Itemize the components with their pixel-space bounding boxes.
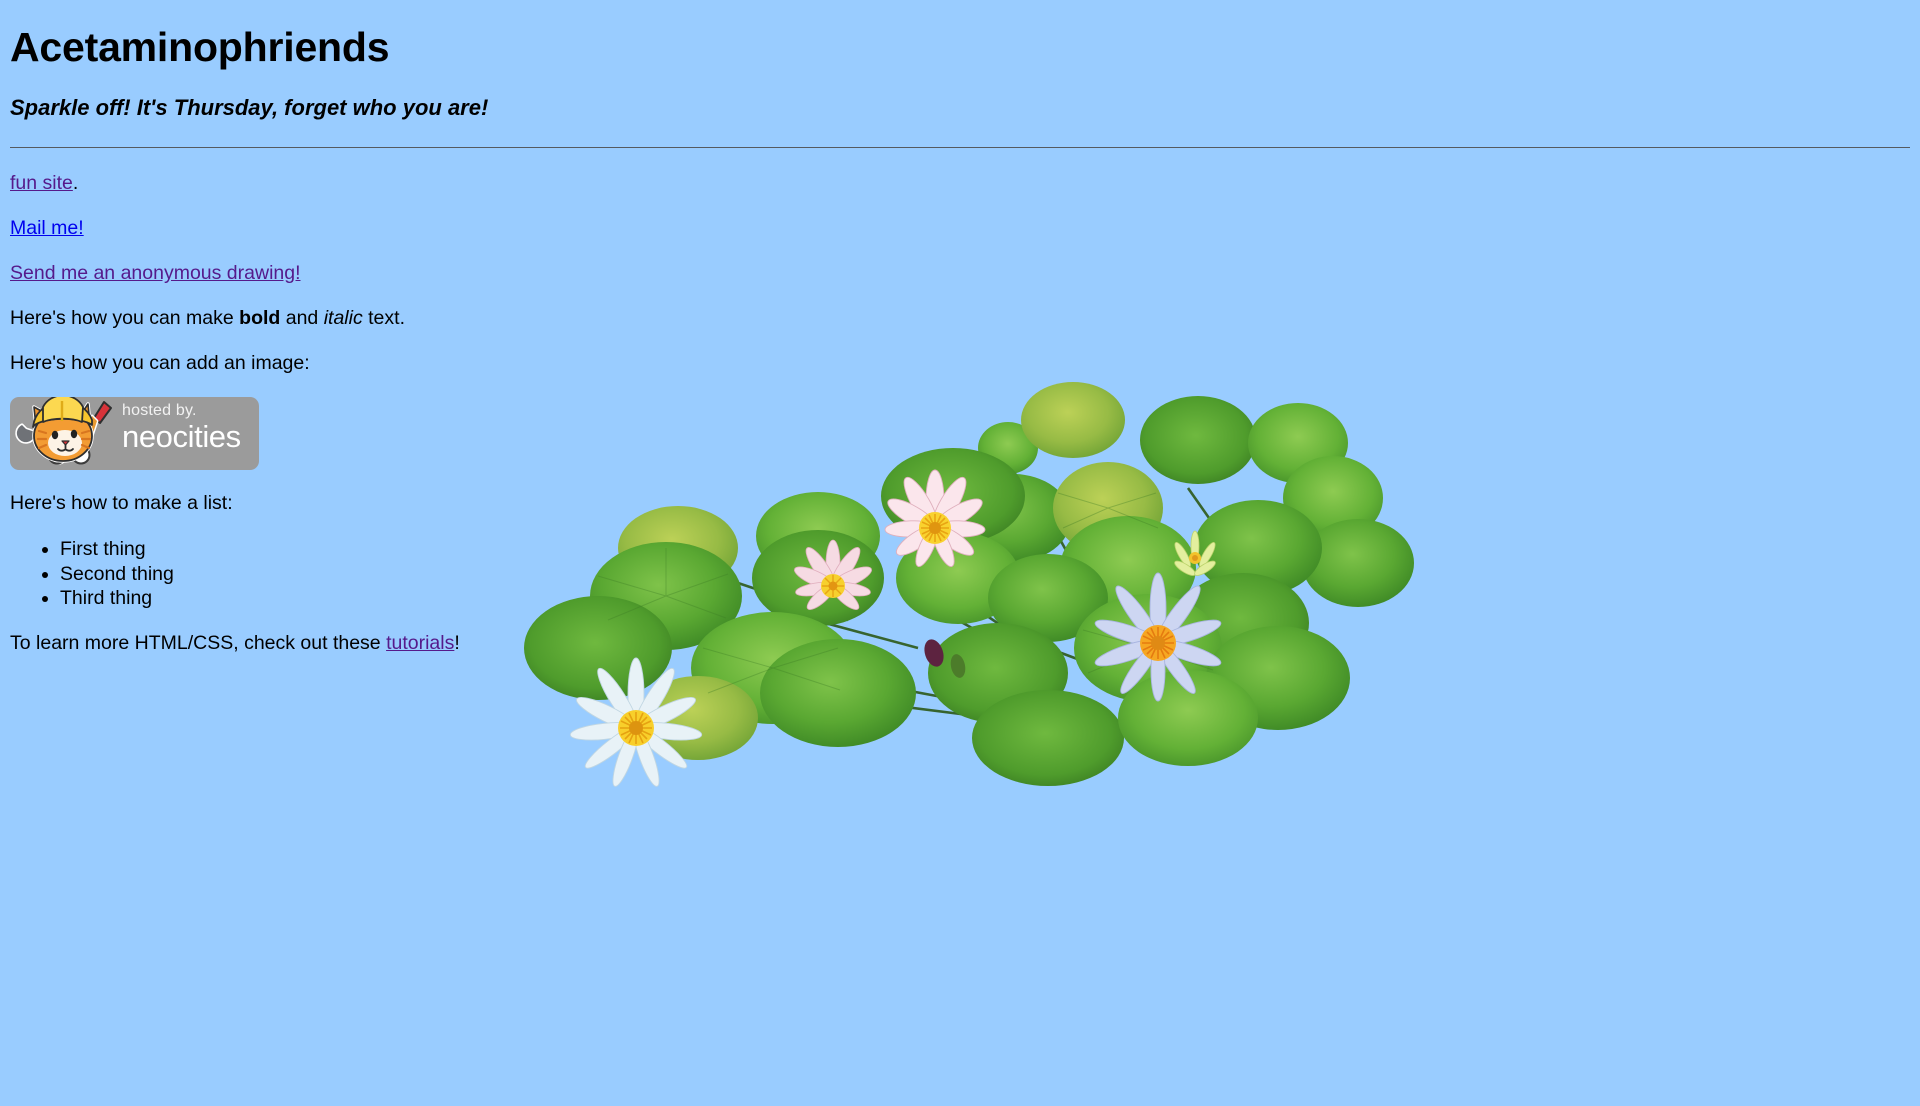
send-anonymous-drawing-link[interactable]: Send me an anonymous drawing! bbox=[10, 262, 301, 284]
header-divider bbox=[10, 147, 1910, 148]
thing-list: First thing Second thing Third thing bbox=[10, 537, 1910, 610]
fun-site-trailing-period: . bbox=[73, 172, 78, 194]
bold-italic-suffix: text. bbox=[363, 307, 405, 329]
mail-me-link[interactable]: Mail me! bbox=[10, 217, 84, 239]
tutorials-link[interactable]: tutorials bbox=[386, 632, 454, 654]
badge-text-block: hosted by. neocities bbox=[122, 403, 241, 452]
tutorials-prefix: To learn more HTML/CSS, check out these bbox=[10, 632, 386, 654]
page-tagline: Sparkle off! It's Thursday, forget who y… bbox=[10, 96, 1910, 120]
badge-hosted-by-text: hosted by. bbox=[122, 403, 241, 419]
anonymous-drawing-paragraph: Send me an anonymous drawing! bbox=[10, 262, 1910, 285]
image-intro-paragraph: Here's how you can add an image: bbox=[10, 352, 1910, 375]
italic-sample-text: italic bbox=[324, 307, 363, 329]
tutorials-paragraph: To learn more HTML/CSS, check out these … bbox=[10, 632, 1910, 655]
bold-italic-middle: and bbox=[280, 307, 323, 329]
list-intro-paragraph: Here's how to make a list: bbox=[10, 492, 1910, 515]
neocities-cat-icon bbox=[12, 397, 120, 470]
list-item: First thing bbox=[60, 537, 1910, 561]
list-item: Third thing bbox=[60, 586, 1910, 610]
page-title: Acetaminophriends bbox=[10, 26, 1910, 69]
bold-italic-prefix: Here's how you can make bbox=[10, 307, 239, 329]
bold-sample-text: bold bbox=[239, 307, 280, 329]
fun-site-paragraph: fun site. bbox=[10, 172, 1910, 195]
hosted-by-neocities-badge[interactable]: hosted by. neocities bbox=[10, 397, 259, 470]
bold-italic-demo-paragraph: Here's how you can make bold and italic … bbox=[10, 307, 1910, 330]
badge-paragraph: hosted by. neocities bbox=[10, 397, 1910, 470]
mail-me-paragraph: Mail me! bbox=[10, 217, 1910, 240]
page-content: Acetaminophriends Sparkle off! It's Thur… bbox=[0, 26, 1920, 655]
tutorials-suffix: ! bbox=[454, 632, 459, 654]
fun-site-link[interactable]: fun site bbox=[10, 172, 73, 194]
badge-brand-text: neocities bbox=[122, 421, 241, 452]
list-item: Second thing bbox=[60, 562, 1910, 586]
